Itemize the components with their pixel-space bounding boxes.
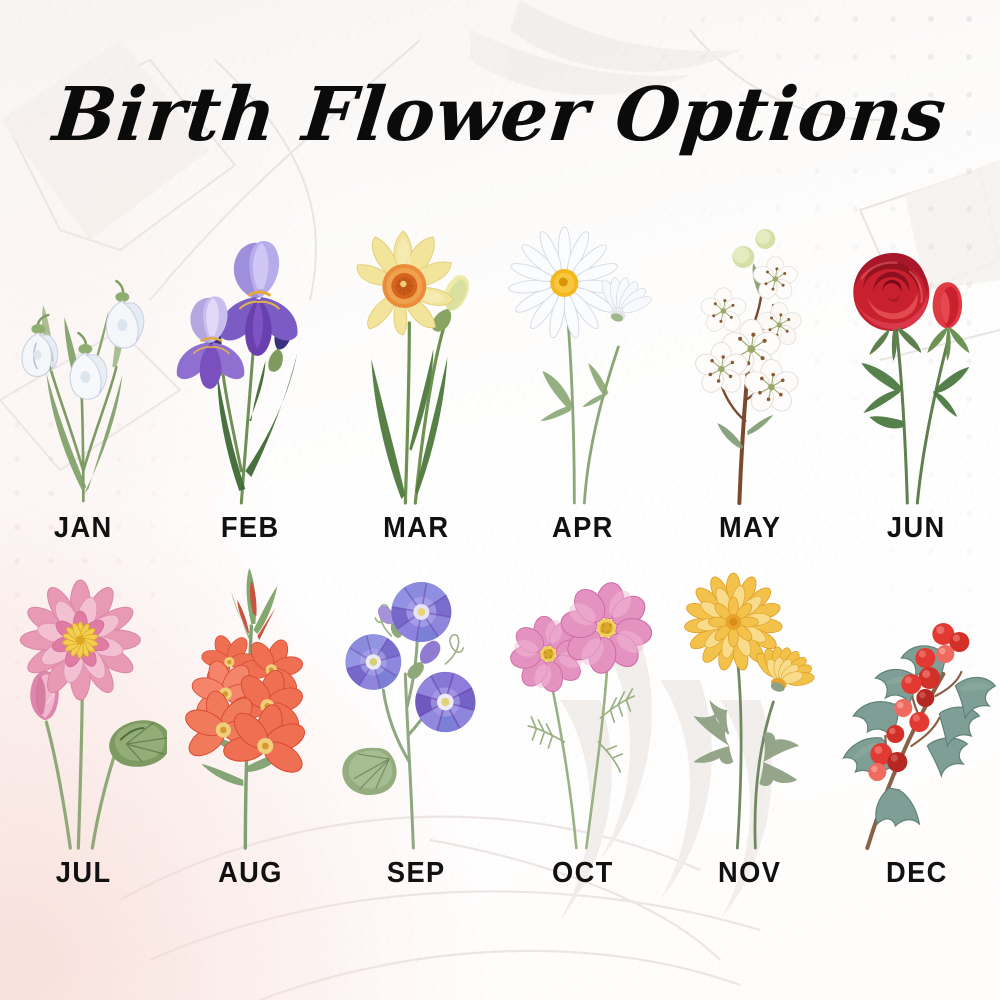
daffodil-icon [333, 221, 500, 506]
flower-cell-dec[interactable]: DEC [833, 550, 1000, 895]
month-label-dec: DEC [886, 851, 948, 895]
chrysanthemum-icon [667, 566, 834, 851]
month-label-jun: JUN [887, 506, 946, 550]
flower-grid: JAN [0, 205, 1000, 895]
page-title: Birth Flower Options [0, 78, 1000, 152]
month-label-apr: APR [552, 506, 614, 550]
flower-cell-may[interactable]: MAY [667, 205, 834, 550]
water-lily-icon [0, 566, 167, 851]
flower-row-second-half: JUL [0, 550, 1000, 895]
gladiolus-icon [167, 566, 334, 851]
month-label-may: MAY [719, 506, 781, 550]
flower-cell-nov[interactable]: NOV [667, 550, 834, 895]
month-label-feb: FEB [221, 506, 280, 550]
month-label-mar: MAR [384, 506, 450, 550]
holly-icon [833, 566, 1000, 851]
cosmos-icon [500, 566, 667, 851]
month-label-jul: JUL [55, 851, 111, 895]
flower-cell-jan[interactable]: JAN [0, 205, 167, 550]
birth-flower-chart: Birth Flower Options [0, 0, 1000, 1000]
flower-cell-aug[interactable]: AUG [167, 550, 334, 895]
month-label-oct: OCT [552, 851, 614, 895]
iris-icon [167, 221, 334, 506]
rose-icon [833, 221, 1000, 506]
flower-cell-jul[interactable]: JUL [0, 550, 167, 895]
daisy-icon [500, 221, 667, 506]
flower-row-first-half: JAN [0, 205, 1000, 550]
snowdrop-icon [0, 221, 167, 506]
flower-cell-oct[interactable]: OCT [500, 550, 667, 895]
morning-glory-icon [333, 566, 500, 851]
month-label-sep: SEP [387, 851, 446, 895]
flower-cell-feb[interactable]: FEB [167, 205, 334, 550]
flower-cell-apr[interactable]: APR [500, 205, 667, 550]
month-label-nov: NOV [718, 851, 781, 895]
flower-cell-sep[interactable]: SEP [333, 550, 500, 895]
month-label-jan: JAN [54, 506, 113, 550]
flower-cell-jun[interactable]: JUN [833, 205, 1000, 550]
month-label-aug: AUG [218, 851, 283, 895]
flower-cell-mar[interactable]: MAR [333, 205, 500, 550]
hawthorn-icon [667, 221, 834, 506]
